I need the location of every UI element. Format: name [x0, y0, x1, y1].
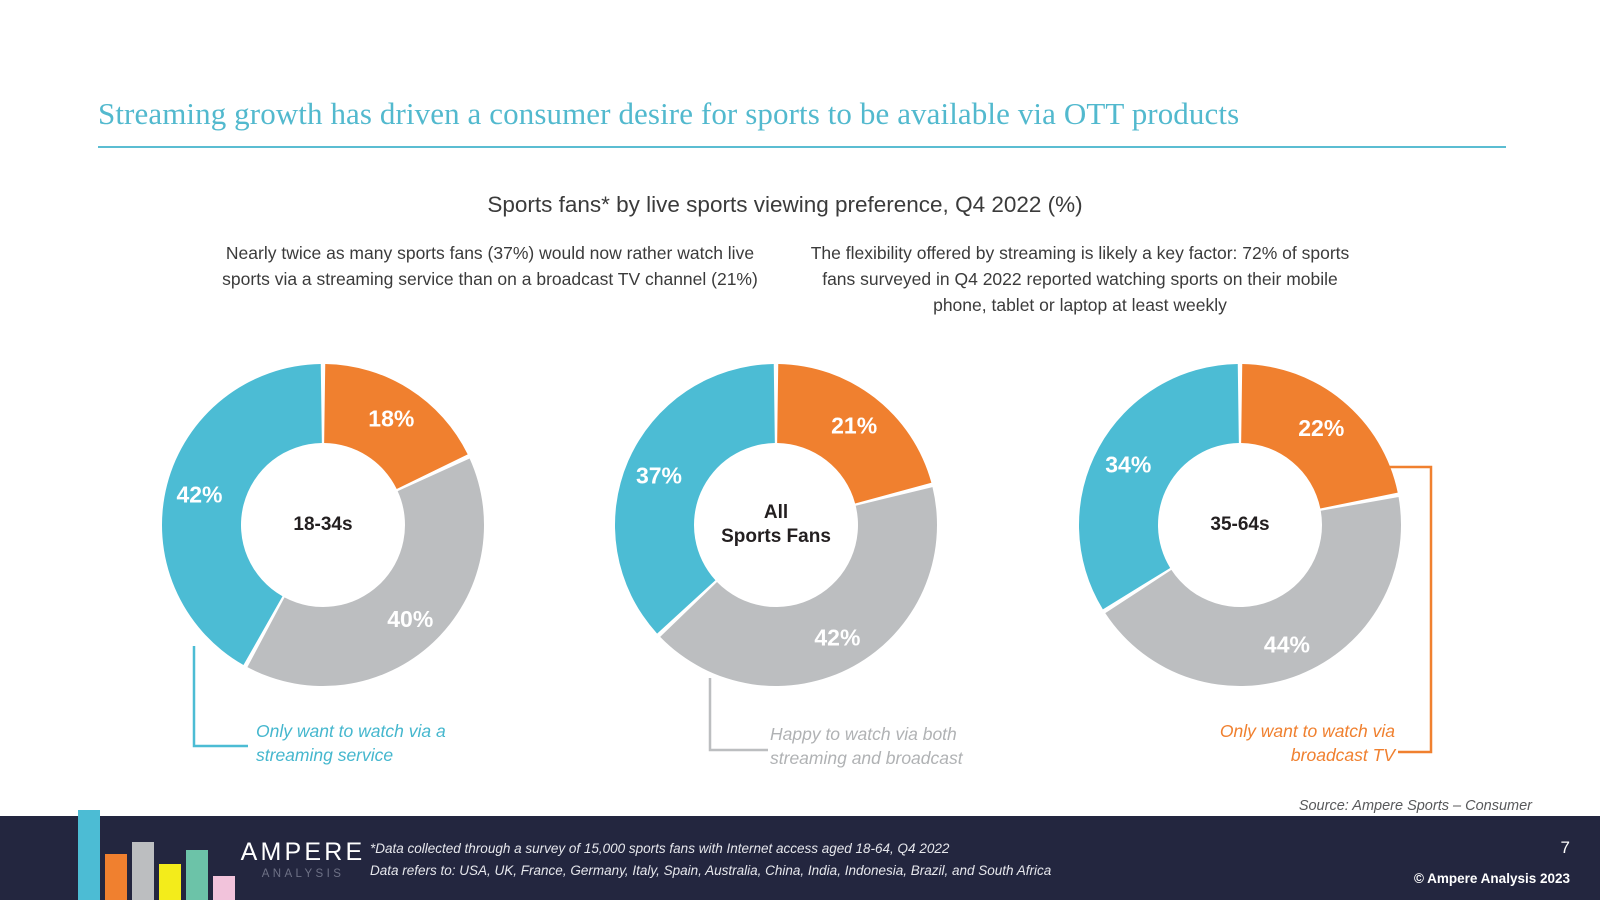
footer-note-1: *Data collected through a survey of 15,0… — [370, 838, 1051, 860]
donut-segment-label: 34% — [1105, 452, 1151, 478]
donut-segment — [615, 364, 775, 634]
donut-segment-label: 21% — [831, 412, 877, 438]
logo-subtitle: ANALYSIS — [238, 866, 368, 882]
callout-left: Nearly twice as many sports fans (37%) w… — [215, 240, 765, 292]
donut-segment — [1079, 364, 1239, 609]
chart-heading: Sports fans* by live sports viewing pref… — [0, 192, 1570, 218]
donut-segment-label: 42% — [814, 625, 860, 651]
donut-svg-2: 21%42%37% — [608, 357, 944, 693]
source-note: Source: Ampere Sports – Consumer — [1299, 798, 1532, 814]
donut-segment-label: 40% — [387, 606, 433, 632]
footer-note-2: Data refers to: USA, UK, France, Germany… — [370, 860, 1051, 882]
legend-label-broadcast: Only want to watch via broadcast TV — [1150, 719, 1395, 767]
logo-wordmark: AMPERE — [238, 838, 368, 866]
callout-right: The flexibility offered by streaming is … — [800, 240, 1360, 318]
logo-bar-pink — [213, 876, 235, 900]
donut-chart-18-34s: 18%40%42% 18-34s — [155, 357, 491, 693]
donut-segment-label: 18% — [368, 405, 414, 431]
donut-segment-label: 44% — [1264, 632, 1310, 658]
copyright-notice: © Ampere Analysis 2023 — [1414, 871, 1570, 886]
donut-segment-label: 42% — [176, 481, 222, 507]
logo-bar-green — [186, 850, 208, 900]
logo-bar-teal — [78, 810, 100, 900]
footer-notes: *Data collected through a survey of 15,0… — [370, 838, 1051, 882]
logo-bar-yellow — [159, 864, 181, 900]
page-title: Streaming growth has driven a consumer d… — [98, 96, 1518, 132]
donut-segment-label: 22% — [1298, 415, 1344, 441]
title-divider — [98, 146, 1506, 148]
legend-label-both: Happy to watch via both streaming and br… — [770, 722, 1020, 770]
donut-svg-3: 22%44%34% — [1072, 357, 1408, 693]
donut-segment — [247, 458, 484, 686]
donut-chart-35-64s: 22%44%34% 35-64s — [1072, 357, 1408, 693]
donut-chart-all-sports-fans: 21%42%37% All Sports Fans — [608, 357, 944, 693]
ampere-logo-bars — [78, 800, 238, 900]
ampere-logo-text: AMPERE ANALYSIS — [238, 838, 368, 882]
donut-segment-label: 37% — [636, 462, 682, 488]
logo-bar-orange — [105, 854, 127, 900]
legend-label-streaming: Only want to watch via a streaming servi… — [256, 719, 496, 767]
logo-bar-gray — [132, 842, 154, 900]
donut-svg-1: 18%40%42% — [155, 357, 491, 693]
page-number: 7 — [1561, 838, 1570, 858]
